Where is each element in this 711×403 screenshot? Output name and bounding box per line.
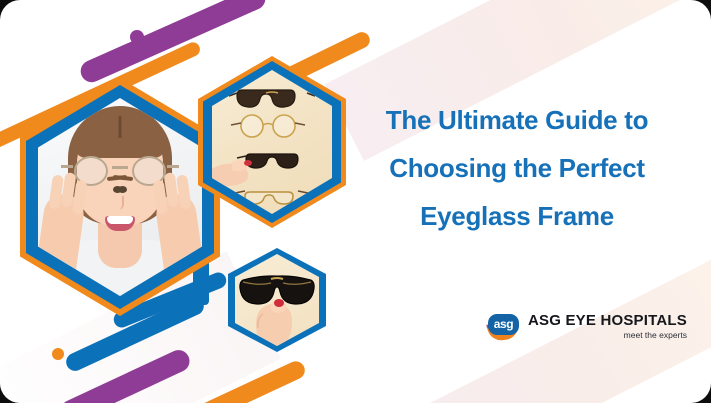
orange-diagonal-bar-bottom-left [182,358,307,403]
title-line-2: Choosing the Perfect [352,144,682,192]
glasses-temple-right [167,165,179,168]
promotional-banner: The Ultimate Guide to Choosing the Perfe… [0,0,711,403]
finger [176,174,192,209]
logo-text-block: ASG EYE HOSPITALS meet the experts [528,313,687,341]
page-title: The Ultimate Guide to Choosing the Perfe… [352,96,682,240]
frame-tortoise-top [229,90,315,107]
glasses-bridge [112,166,128,169]
frame-gold-second [231,115,305,137]
logo-tile: asg [488,314,519,335]
title-line-1: The Ultimate Guide to [352,96,682,144]
eye-right [118,186,127,193]
hair-part [119,116,122,138]
brand-tagline: meet the experts [528,330,687,342]
brand-name: ASG EYE HOSPITALS [528,313,687,330]
orange-dot-bottom-left [52,348,64,360]
purple-dot-top-left [130,30,144,44]
brand-logo: asg ASG EYE HOSPITALS meet the experts [487,313,687,341]
purple-diagonal-bar-top-left [77,0,269,86]
glasses-temple-left [61,165,73,168]
teeth [107,216,133,224]
nose [116,196,124,210]
logo-mark-text: asg [494,318,513,330]
asg-logo-icon: asg [487,314,521,341]
title-line-3: Eyeglass Frame [352,192,682,240]
